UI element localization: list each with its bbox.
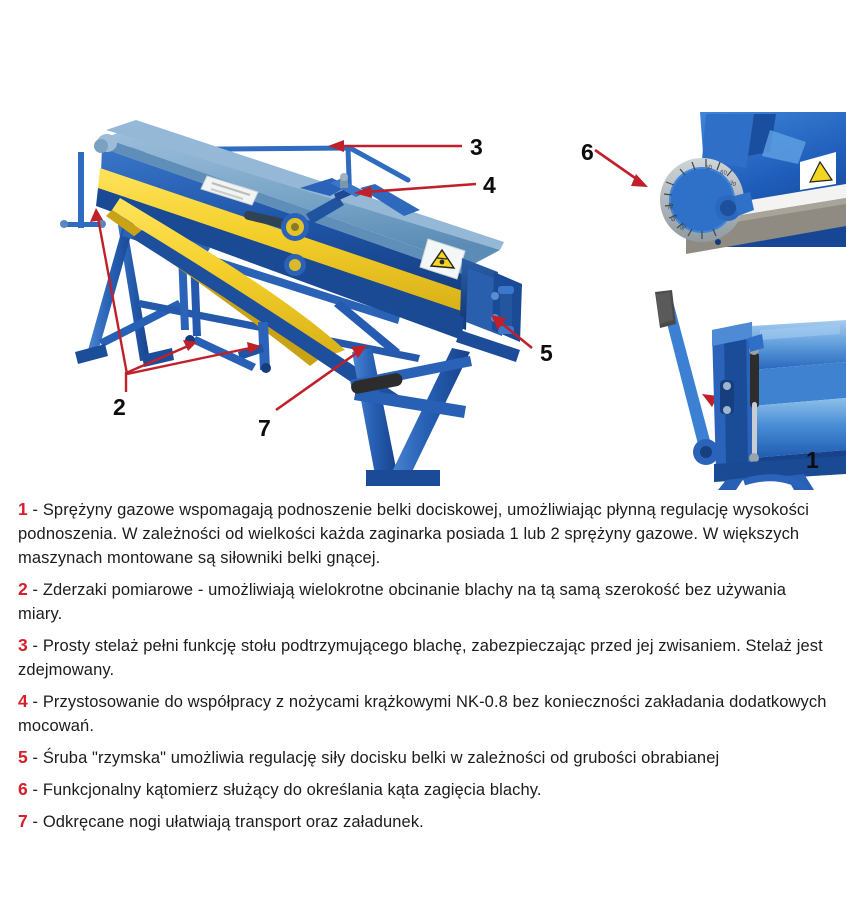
legend-number-4: 4 — [18, 691, 28, 711]
legend-text-6: Funkcjonalny kątomierz służący do określ… — [43, 781, 542, 799]
legend-dash-5: - — [28, 749, 43, 767]
callout-1: 1 — [806, 449, 819, 472]
legend-item-6: 6 - Funkcjonalny kątomierz służący do ok… — [18, 777, 832, 802]
legend-item-3: 3 - Prosty stelaż pełni funkcję stołu po… — [18, 633, 832, 682]
legend-text-3: Prosty stelaż pełni funkcję stołu podtrz… — [18, 637, 823, 679]
legend-item-5: 5 - Śruba "rzymska" umożliwia regulację … — [18, 745, 832, 770]
legend-text-7: Odkręcane nogi ułatwiają transport oraz … — [43, 813, 424, 831]
legend-item-7: 7 - Odkręcane nogi ułatwiają transport o… — [18, 809, 832, 834]
legend-item-2: 2 - Zderzaki pomiarowe - umożliwiają wie… — [18, 577, 832, 626]
angle-protractor-detail: 90 60 30 30 60 90 — [650, 112, 846, 277]
legend-dash-2: - — [28, 581, 43, 599]
legend-dash-4: - — [28, 693, 43, 711]
callout-7: 7 — [258, 417, 271, 440]
legend-number-5: 5 — [18, 747, 28, 767]
legend-number-2: 2 — [18, 579, 28, 599]
legend-text-5: Śruba "rzymska" umożliwia regulację siły… — [43, 749, 719, 767]
legend-dash-6: - — [28, 781, 43, 799]
callout-6: 6 — [581, 141, 594, 164]
legend-text-4: Przystosowanie do współpracy z nożycami … — [18, 693, 827, 735]
legend-number-1: 1 — [18, 499, 28, 519]
legend-item-1: 1 - Sprężyny gazowe wspomagają podnoszen… — [18, 497, 832, 570]
clamp-beam — [752, 320, 846, 474]
svg-text:60: 60 — [720, 170, 728, 177]
legend-text-2: Zderzaki pomiarowe - umożliwiają wielokr… — [18, 581, 786, 623]
arrow-6 — [595, 150, 648, 187]
legend-text-1: Sprężyny gazowe wspomagają podnoszenie b… — [18, 501, 809, 567]
legend-number-7: 7 — [18, 811, 28, 831]
operating-lever — [655, 290, 719, 465]
legend-dash-7: - — [28, 813, 43, 831]
machine-assembly — [60, 120, 522, 486]
legend-dash-3: - — [28, 637, 43, 655]
callout-5: 5 — [540, 342, 553, 365]
legend-list: 1 - Sprężyny gazowe wspomagają podnoszen… — [0, 497, 846, 900]
callout-3: 3 — [470, 136, 483, 159]
legend-item-4: 4 - Przystosowanie do współpracy z nożyc… — [18, 689, 832, 738]
product-feature-page: 90 60 30 30 60 90 — [0, 0, 846, 900]
legend-number-6: 6 — [18, 779, 28, 799]
legend-number-3: 3 — [18, 635, 28, 655]
legend-dash-1: - — [28, 501, 43, 519]
callout-4: 4 — [483, 174, 496, 197]
callout-2: 2 — [113, 396, 126, 419]
front-trestle-leg — [350, 348, 472, 486]
figure-area: 90 60 30 30 60 90 — [0, 0, 846, 495]
